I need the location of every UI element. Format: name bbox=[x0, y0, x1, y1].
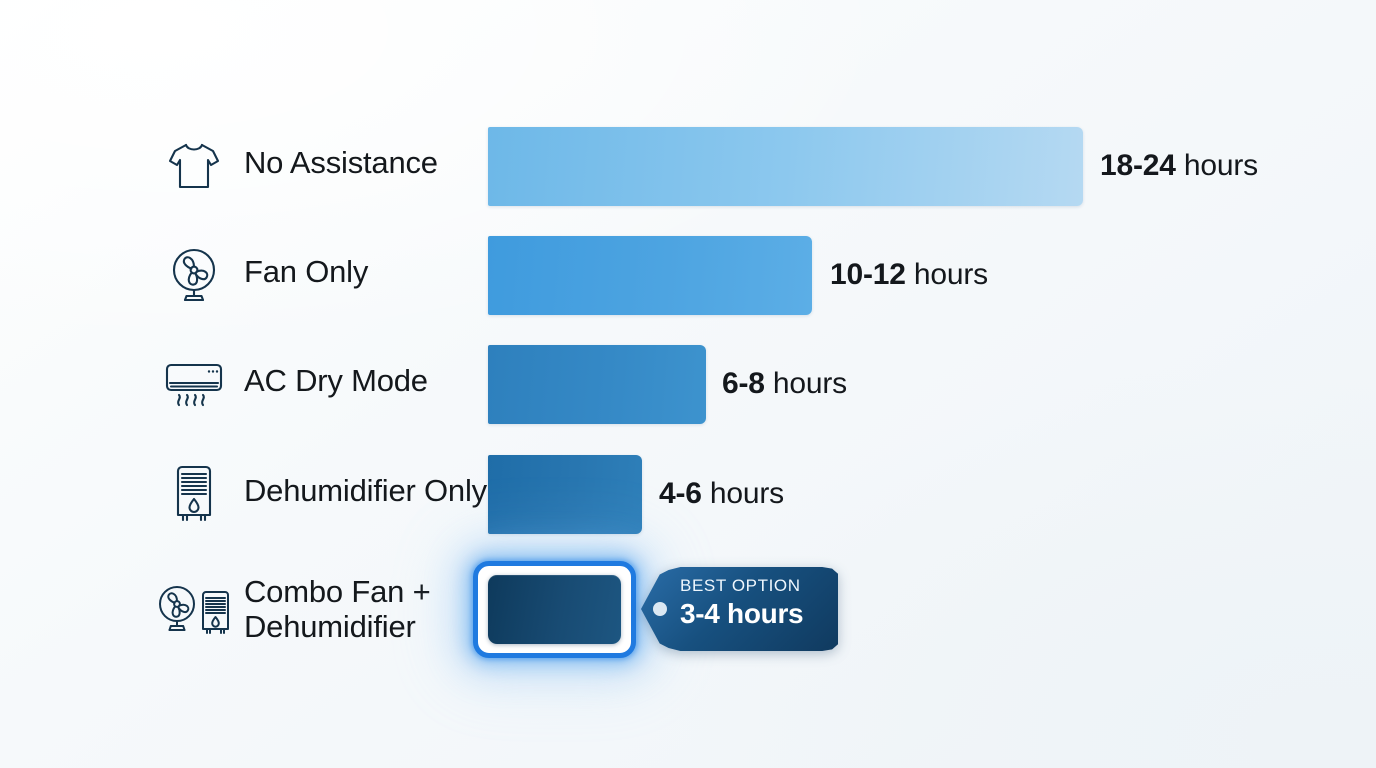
tshirt-icon bbox=[160, 132, 228, 200]
value-number-no-assistance: 18-24 bbox=[1100, 149, 1176, 182]
ac-unit-icon bbox=[160, 350, 228, 418]
row-label-no-assistance: No Assistance bbox=[244, 146, 438, 181]
bar-fan-only bbox=[488, 236, 812, 315]
combo-fan-dehumidifier-icon bbox=[154, 578, 234, 646]
row-label-dehumidifier-only: Dehumidifier Only bbox=[244, 474, 487, 509]
tag-text-group: BEST OPTION 3-4 hours bbox=[680, 576, 828, 630]
best-option-kicker: BEST OPTION bbox=[680, 576, 828, 596]
value-number-dehumidifier-only: 4-6 bbox=[659, 477, 702, 510]
dehumidifier-icon bbox=[160, 460, 228, 528]
value-unit-ac-dry-mode: hours bbox=[765, 367, 847, 400]
fan-icon bbox=[160, 241, 228, 309]
value-label-fan-only: 10-12 hours bbox=[830, 258, 988, 292]
value-unit-dehumidifier-only: hours bbox=[702, 477, 784, 510]
value-number-ac-dry-mode: 6-8 bbox=[722, 367, 765, 400]
bar-no-assistance bbox=[488, 127, 1083, 206]
value-unit-no-assistance: hours bbox=[1176, 149, 1258, 182]
drying-time-comparison-chart: No Assistance 18-24 hours Fan Only 10-12… bbox=[0, 0, 1376, 768]
bar-dehumidifier-only bbox=[488, 455, 642, 534]
bar-ac-dry-mode bbox=[488, 345, 706, 424]
best-option-value: 3-4 hours bbox=[680, 597, 828, 631]
tag-hole-icon bbox=[653, 602, 667, 616]
best-option-tag: BEST OPTION 3-4 hours bbox=[641, 567, 838, 651]
value-label-no-assistance: 18-24 hours bbox=[1100, 149, 1258, 183]
value-unit-fan-only: hours bbox=[906, 258, 988, 291]
value-number-fan-only: 10-12 bbox=[830, 258, 906, 291]
row-label-ac-dry-mode: AC Dry Mode bbox=[244, 364, 428, 399]
row-label-combo-fan-dehumidifier: Combo Fan + Dehumidifier bbox=[244, 575, 430, 644]
value-label-dehumidifier-only: 4-6 hours bbox=[659, 477, 784, 511]
row-label-fan-only: Fan Only bbox=[244, 255, 368, 290]
bar-combo-fan-dehumidifier bbox=[488, 575, 621, 644]
value-label-ac-dry-mode: 6-8 hours bbox=[722, 367, 847, 401]
